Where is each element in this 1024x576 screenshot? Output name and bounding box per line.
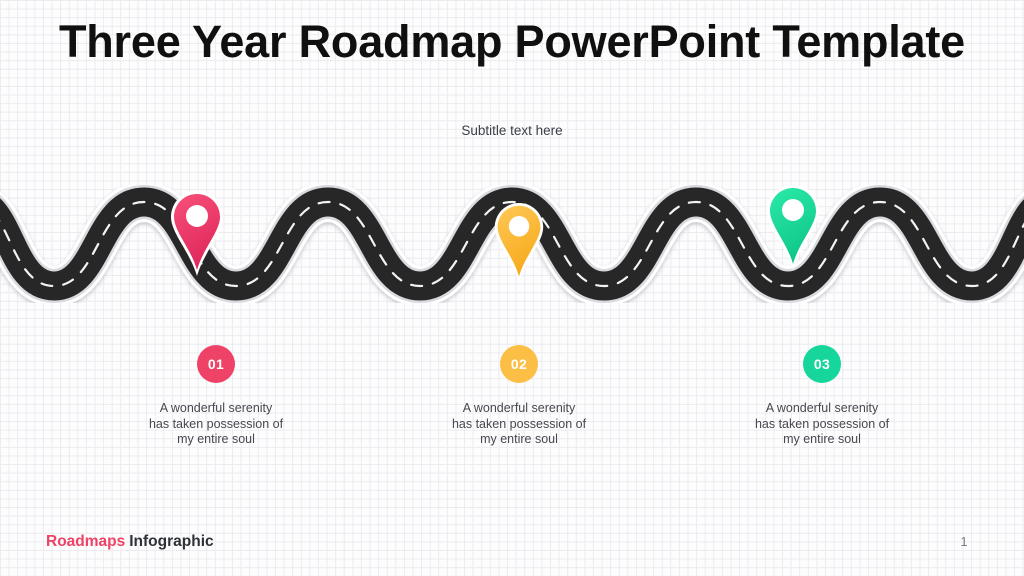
brand-name-secondary: Infographic	[129, 533, 213, 550]
map-pin-icon-1[interactable]	[168, 188, 226, 280]
milestone-description-3: A wonderful serenity has taken possessio…	[702, 401, 942, 448]
milestone-2: 02 A wonderful serenity has taken posses…	[399, 345, 639, 448]
page-subtitle: Subtitle text here	[0, 121, 1024, 141]
milestone-3: 03 A wonderful serenity has taken posses…	[702, 345, 942, 448]
map-pin-icon-2[interactable]	[492, 200, 546, 286]
milestone-description-1: A wonderful serenity has taken possessio…	[96, 401, 336, 448]
milestone-1: 01 A wonderful serenity has taken posses…	[96, 345, 336, 448]
milestone-badge-03[interactable]: 03	[803, 345, 841, 383]
pin-hole-1	[186, 205, 208, 227]
milestone-badge-02[interactable]: 02	[500, 345, 538, 383]
milestone-badge-01[interactable]: 01	[197, 345, 235, 383]
brand-name-primary: Roadmaps	[46, 533, 125, 550]
page-title: Three Year Roadmap PowerPoint Template	[0, 16, 1024, 68]
pin-hole-2	[509, 216, 529, 236]
pin-hole-3	[782, 199, 804, 221]
milestone-description-2: A wonderful serenity has taken possessio…	[399, 401, 639, 448]
page-number: 1	[944, 533, 984, 551]
map-pin-icon-3[interactable]	[764, 182, 822, 274]
footer-brand: RoadmapsInfographic	[46, 532, 214, 552]
slide-canvas: Three Year Roadmap PowerPoint Template S…	[0, 0, 1024, 576]
